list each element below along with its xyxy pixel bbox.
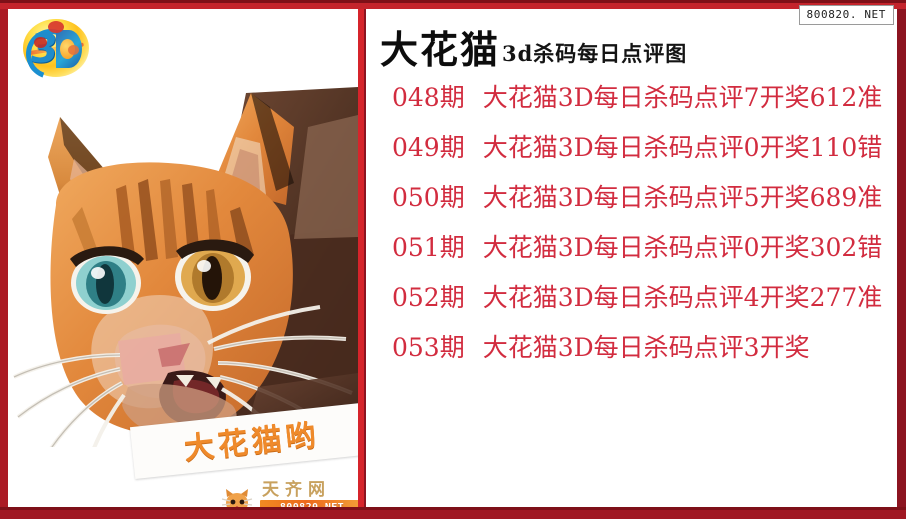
frame-bottom-band — [0, 510, 906, 519]
prediction-list: 048期大花猫3D每日杀码点评7开奖612准 049期大花猫3D每日杀码点评0开… — [392, 73, 892, 373]
frame-left-edge — [0, 9, 8, 507]
row-body: 大花猫3D每日杀码点评7开奖612准 — [483, 83, 883, 112]
row-body: 大花猫3D每日杀码点评0开奖302错 — [483, 233, 883, 262]
row-period: 051期 — [392, 233, 465, 262]
list-item: 049期大花猫3D每日杀码点评0开奖110错 — [392, 123, 892, 173]
site-badge: 800820. NET — [799, 5, 894, 25]
row-period: 050期 — [392, 183, 465, 212]
logo-accent-1 — [48, 21, 64, 33]
row-body: 大花猫3D每日杀码点评4开奖277准 — [483, 283, 883, 312]
site-watermark: 天齐网 800820.NET — [216, 479, 358, 507]
content-panel: 大花猫3d杀码每日点评图 048期大花猫3D每日杀码点评7开奖612准 049期… — [366, 9, 897, 507]
list-item: 048期大花猫3D每日杀码点评7开奖612准 — [392, 73, 892, 123]
row-period: 053期 — [392, 333, 465, 362]
image-panel: 3 — [8, 9, 358, 507]
list-item: 052期大花猫3D每日杀码点评4开奖277准 — [392, 273, 892, 323]
poster-frame: 3 — [0, 0, 906, 519]
list-item: 050期大花猫3D每日杀码点评5开奖689准 — [392, 173, 892, 223]
cat-photo — [8, 87, 358, 447]
page-title-main: 大花猫 — [380, 27, 500, 72]
panel-divider — [358, 9, 364, 507]
row-period: 052期 — [392, 283, 465, 312]
page-title: 大花猫3d杀码每日点评图 — [380, 19, 687, 74]
watermark-site-name: 天齐网 — [262, 479, 358, 501]
watermark-url-bar: 800820.NET — [260, 500, 358, 507]
row-body: 大花猫3D每日杀码点评0开奖110错 — [483, 133, 883, 162]
watermark-url: 800820.NET — [260, 500, 358, 507]
frame-right-edge — [897, 9, 906, 507]
3d-logo-icon: 3 — [20, 17, 92, 79]
row-period: 049期 — [392, 133, 465, 162]
list-item: 053期大花猫3D每日杀码点评3开奖 — [392, 323, 892, 373]
logo-accent-3 — [68, 45, 79, 55]
list-item: 051期大花猫3D每日杀码点评0开奖302错 — [392, 223, 892, 273]
row-body: 大花猫3D每日杀码点评5开奖689准 — [483, 183, 883, 212]
logo-letter-3: 3 — [28, 27, 63, 71]
watermark-cat-icon — [220, 487, 254, 507]
cat-illustration — [8, 87, 358, 447]
page-title-sub: 3d杀码每日点评图 — [502, 41, 687, 66]
row-body: 大花猫3D每日杀码点评3开奖 — [483, 333, 810, 362]
logo-accent-2 — [34, 37, 47, 48]
row-period: 048期 — [392, 83, 465, 112]
